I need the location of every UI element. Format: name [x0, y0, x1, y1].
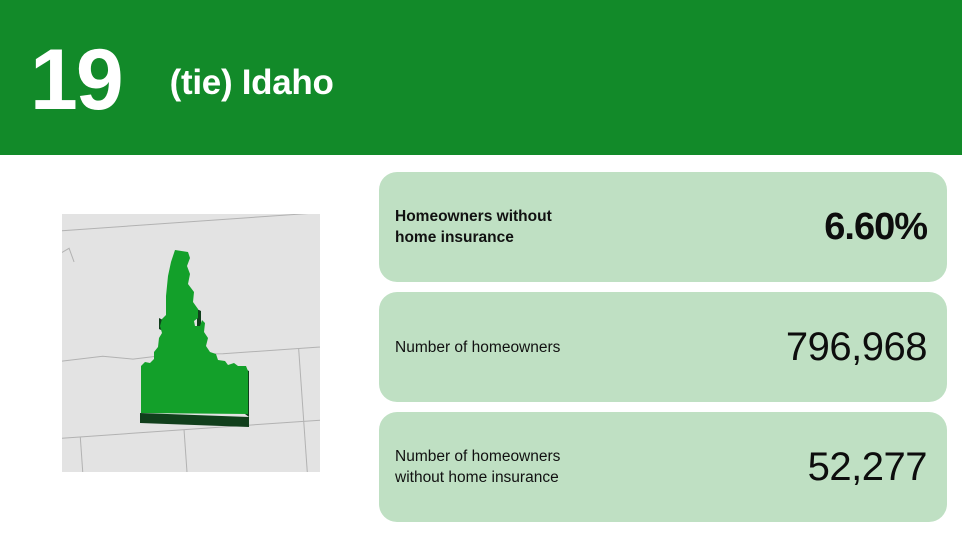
stat-card-value: 52,277	[808, 447, 927, 487]
rank-number: 19	[30, 37, 122, 123]
stat-card: Number of homeowners without home insura…	[379, 412, 947, 522]
stat-card-value: 796,968	[786, 327, 927, 367]
stat-card-label: Homeowners without home insurance	[395, 206, 552, 248]
stat-card-label: Number of homeowners	[395, 337, 560, 358]
stat-card-label: Number of homeowners without home insura…	[395, 446, 560, 488]
stat-cards-list: Homeowners without home insurance 6.60% …	[379, 172, 947, 532]
state-map-graphic	[62, 214, 320, 472]
stat-card: Homeowners without home insurance 6.60%	[379, 172, 947, 282]
page-title: (tie) Idaho	[170, 65, 334, 100]
state-map-panel	[62, 214, 320, 472]
stat-card: Number of homeowners 796,968	[379, 292, 947, 402]
header-bar: 19 (tie) Idaho	[0, 0, 962, 155]
stat-card-value: 6.60%	[824, 208, 927, 246]
